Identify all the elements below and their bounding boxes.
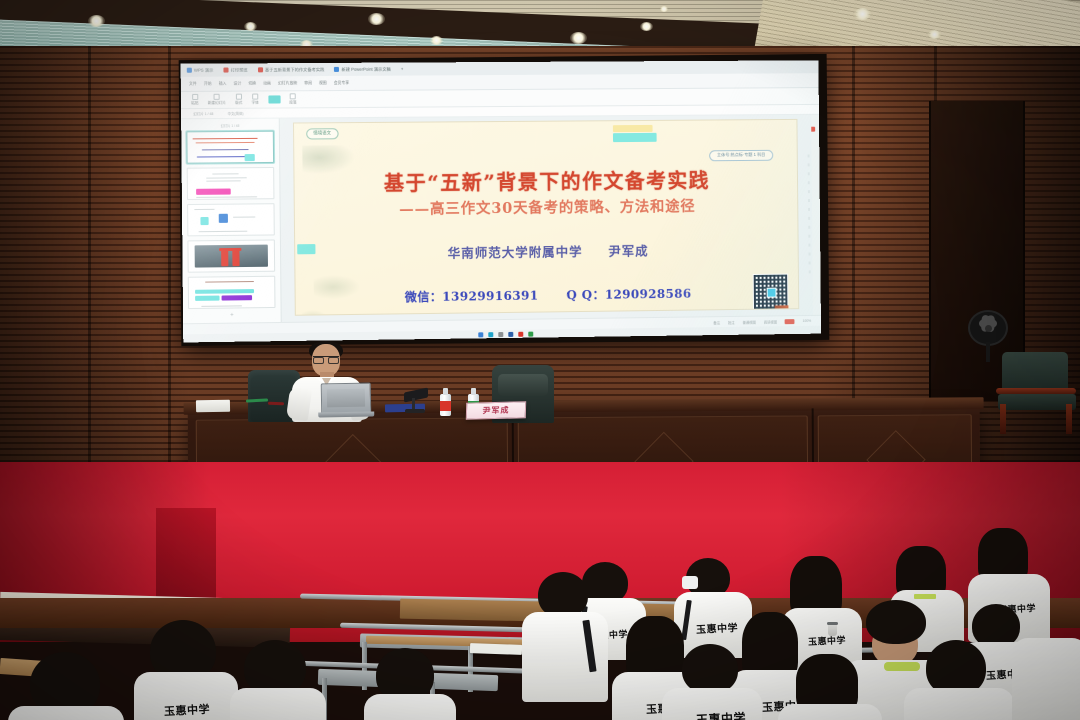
- slide-editing-area[interactable]: 情境语文 主体号:热点标·专题 1 科目 基于“五新”背景下的作文备考实践 ——…: [280, 115, 813, 322]
- paste-icon: [192, 94, 198, 100]
- status-notes[interactable]: 备注: [713, 320, 720, 325]
- ribbon-tab-home[interactable]: 开始: [204, 81, 212, 86]
- laptop: [318, 383, 375, 418]
- app-tab-1[interactable]: 打印预览: [223, 67, 247, 73]
- ribbon-tab-view[interactable]: 视图: [319, 81, 327, 86]
- slide-thumbnail-3[interactable]: [187, 203, 275, 236]
- add-slide-button[interactable]: +: [188, 312, 275, 319]
- current-slide[interactable]: 情境语文 主体号:热点标·专题 1 科目 基于“五新”背景下的作文备考实践 ——…: [293, 119, 799, 316]
- status-normal-view[interactable]: 普通视图: [742, 319, 755, 324]
- notebook: [470, 643, 522, 655]
- app-tab-0[interactable]: WPS 演示: [187, 67, 214, 73]
- ribbon-tab-member[interactable]: 会员专享: [334, 80, 349, 85]
- ink-brush-decoration-bottom: [302, 309, 328, 315]
- new-slide-icon: [214, 94, 220, 100]
- ribbon-tab-design[interactable]: 设计: [233, 81, 241, 86]
- uniform-text-back-2: 玉惠中学: [696, 619, 739, 636]
- status-record-icon[interactable]: [785, 319, 795, 324]
- slide-author-line: 华南师范大学附属中学尹军成: [295, 239, 798, 264]
- start-icon[interactable]: [478, 332, 483, 337]
- uniform-text-front-left-1: 玉惠中学: [164, 701, 211, 719]
- font-icon: [252, 94, 258, 100]
- app-tab-3-label: 新建 PowerPoint 演示文稿: [341, 66, 390, 72]
- qq-label: Q Q：: [566, 288, 605, 302]
- slide-contact-line: 微信：13929916391Q Q：1290928586: [296, 283, 799, 306]
- folder-icon[interactable]: [498, 332, 503, 337]
- slide-title: 基于“五新”背景下的作文备考实践: [294, 163, 797, 196]
- highlight-cyan-top: [613, 133, 657, 142]
- thumbnail-image-4: [195, 245, 268, 268]
- microphone-icon: [404, 390, 430, 414]
- wechat-value: 13929916391: [442, 289, 538, 304]
- slide-thumbnail-5[interactable]: [188, 276, 276, 309]
- paper-stack: [196, 400, 230, 413]
- slide-presenter: 尹军成: [608, 243, 648, 258]
- app-tab-3[interactable]: 新建 PowerPoint 演示文稿: [334, 66, 390, 72]
- slide-thumbnail-1[interactable]: [186, 131, 274, 164]
- slide-badge-top-right: 主体号:热点标·专题 1 科目: [709, 150, 773, 161]
- tool-paste-button[interactable]: 粘贴: [191, 94, 198, 106]
- slide-title-prefix: 基于: [384, 171, 427, 195]
- glasses-icon: [313, 356, 339, 361]
- slide-subtitle: ——高三作文30天备考的策略、方法和途径: [295, 194, 798, 220]
- app-tab-1-label: 打印预览: [231, 67, 248, 73]
- browser-icon[interactable]: [488, 332, 493, 337]
- slide-title-suffix: 背景下的作文备考实践: [496, 168, 710, 194]
- face-mask: [682, 576, 698, 589]
- slide-thumbnail-panel[interactable]: 幻灯片 1 / 48: [181, 119, 282, 324]
- slide-title-quoted: “五新”: [427, 170, 496, 195]
- tool-font-button[interactable]: 字体: [251, 94, 258, 106]
- slide-organization: 华南师范大学附属中学: [448, 244, 583, 261]
- media-icon[interactable]: [518, 331, 523, 336]
- ribbon-tab-review[interactable]: 审阅: [304, 81, 312, 86]
- layout-icon: [236, 94, 242, 100]
- nameplate: 尹军成: [466, 401, 526, 420]
- ribbon-tab-file[interactable]: 文件: [189, 81, 197, 86]
- chat-icon[interactable]: [528, 331, 533, 336]
- selected-color-swatch[interactable]: [268, 95, 280, 103]
- app-tab-2-label: 基于五新背景下的作文备考实践: [265, 66, 324, 72]
- status-reading-view[interactable]: 阅读视图: [764, 319, 777, 324]
- tool-new-slide-label: 新建幻灯片: [208, 101, 226, 106]
- uniform-text-front-right-1: 玉惠中学: [696, 709, 747, 720]
- uniform-text-back-3: 玉惠中学: [808, 633, 847, 648]
- ribbon-tab-transitions[interactable]: 切换: [248, 81, 256, 86]
- highlight-yellow-top: [613, 125, 653, 132]
- water-bottle-red: [440, 388, 451, 416]
- qr-code-icon: [753, 274, 789, 310]
- slide-thumbnail-2[interactable]: [187, 167, 275, 200]
- wooden-armchair: [996, 352, 1080, 434]
- slide-badge-top-left: 情境语文: [306, 128, 338, 139]
- wall-shadow-left: [0, 46, 190, 466]
- thumbnail-panel-header: 幻灯片 1 / 48: [186, 123, 273, 129]
- slide-footnote: 微信：QQ 1290928586博客http://blog.sina.com.c…: [296, 310, 798, 316]
- tool-paragraph-button[interactable]: 段落: [289, 93, 296, 105]
- footnote-left: 微信：QQ 1290928586: [478, 314, 522, 316]
- tool-font-label: 字体: [252, 101, 259, 106]
- wps-icon[interactable]: [508, 331, 513, 336]
- app-tab-new[interactable]: +: [401, 67, 404, 72]
- wechat-label: 微信：: [405, 290, 443, 305]
- status-comments[interactable]: 批注: [728, 319, 735, 324]
- ribbon-tab-animations[interactable]: 动画: [263, 81, 271, 86]
- tool-layout-button[interactable]: 版式: [235, 94, 242, 106]
- status-zoom-level[interactable]: 100%: [803, 319, 812, 323]
- language-indicator[interactable]: 中文(简体): [228, 111, 244, 116]
- tool-new-slide-button[interactable]: 新建幻灯片: [208, 94, 226, 106]
- app-tab-0-label: WPS 演示: [194, 67, 213, 73]
- tool-layout-label: 版式: [235, 101, 242, 106]
- app-tab-2[interactable]: 基于五新背景下的作文备考实践: [258, 66, 325, 72]
- tool-paste-label: 粘贴: [191, 101, 198, 106]
- audience-area: 玉惠中学 玉惠中学 玉惠中学 玉惠中学 玉惠中学: [0, 520, 1080, 720]
- app-tab-new-label: +: [401, 67, 404, 72]
- ribbon-tab-insert[interactable]: 插入: [219, 81, 227, 86]
- lecture-hall-photo: WPS 演示 打印预览 基于五新背景下的作文备考实践 新建 PowerPoint…: [0, 0, 1080, 720]
- presenter-arm-left: [286, 387, 312, 422]
- ribbon-tab-slideshow[interactable]: 幻灯片放映: [278, 81, 297, 86]
- projection-screen: WPS 演示 打印预览 基于五新背景下的作文备考实践 新建 PowerPoint…: [179, 54, 830, 346]
- footnote-right: 博客http://blog.sina.com.cn/u/300291432: [544, 312, 620, 315]
- slide-thumbnail-4[interactable]: [187, 239, 275, 272]
- qq-value: 1290928586: [605, 287, 692, 302]
- slide-counter: 幻灯片 1 / 48: [193, 111, 213, 116]
- slide-scrollbar[interactable]: [808, 154, 811, 275]
- paragraph-icon: [290, 93, 296, 99]
- thermos-cup: [828, 624, 837, 636]
- projected-desktop: WPS 演示 打印预览 基于五新背景下的作文备考实践 新建 PowerPoint…: [181, 60, 821, 342]
- pen-red: [268, 402, 284, 406]
- tool-paragraph-label: 段落: [289, 100, 296, 105]
